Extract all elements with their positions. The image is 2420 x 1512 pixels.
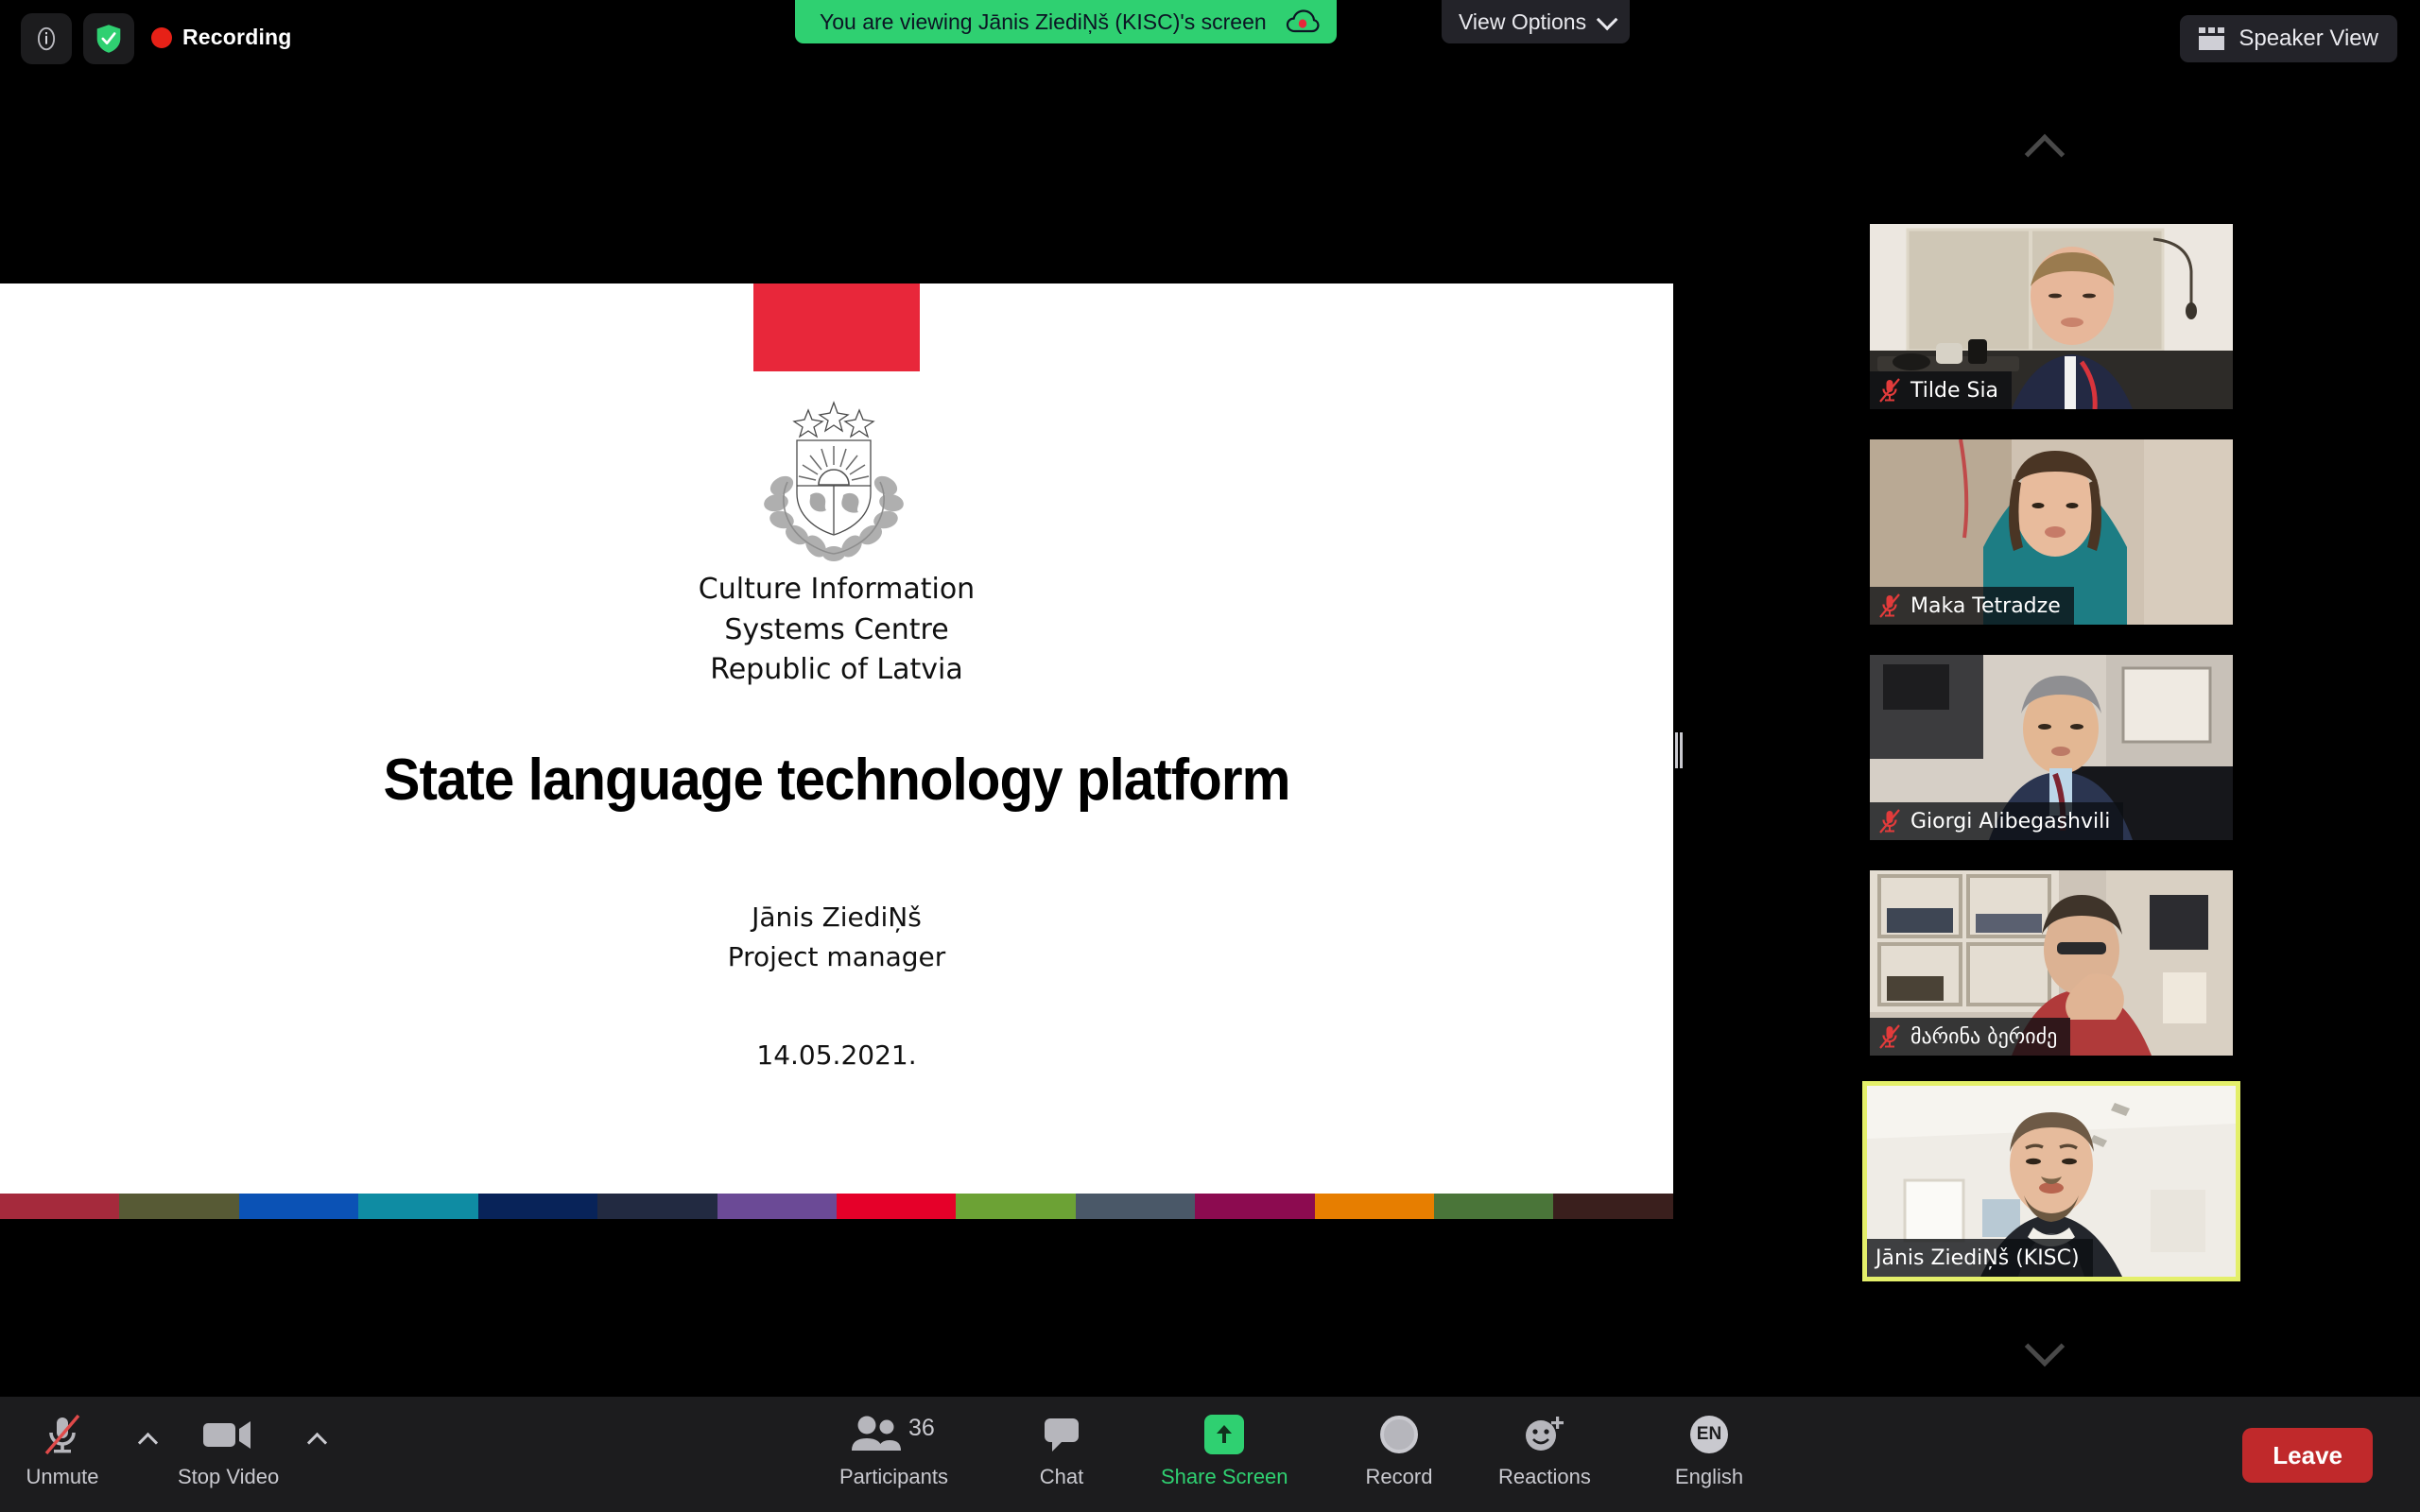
video-options-caret-button[interactable] — [306, 1431, 331, 1452]
chevron-down-icon — [2025, 1327, 2065, 1366]
presenter-role: Project manager — [0, 937, 1673, 977]
language-code: EN — [1690, 1416, 1728, 1453]
participant-name: Jānis ZiediŅš (KISC) — [1875, 1246, 2080, 1270]
color-strip-block — [239, 1194, 358, 1219]
participant-tile[interactable]: Tilde Sia — [1870, 224, 2233, 409]
color-strip-block — [597, 1194, 717, 1219]
recording-label: Recording — [182, 25, 292, 50]
color-strip-block — [478, 1194, 597, 1219]
participant-name-badge: მარინა ბერიძე — [1870, 1018, 2070, 1056]
layout-grid-icon — [2199, 27, 2225, 50]
color-strip-block — [1315, 1194, 1434, 1219]
language-label: English — [1675, 1465, 1743, 1489]
record-label: Record — [1366, 1465, 1433, 1489]
latvia-coat-of-arms-icon — [744, 395, 924, 565]
reactions-label: Reactions — [1498, 1465, 1591, 1489]
unmute-label: Unmute — [26, 1465, 98, 1489]
language-circle-icon: EN — [1690, 1412, 1728, 1457]
color-strip-block — [837, 1194, 956, 1219]
encryption-shield-icon — [95, 24, 123, 54]
stop-video-label: Stop Video — [178, 1465, 279, 1489]
presenter-name: Jānis ZiediŅš — [0, 898, 1673, 937]
shared-screen-slide[interactable]: Culture Information Systems Centre Repub… — [0, 283, 1673, 1219]
speaker-view-label: Speaker View — [2238, 26, 2378, 52]
meeting-top-bar: Recording You are viewing Jānis ZiediŅš … — [0, 0, 2420, 77]
view-options-label: View Options — [1459, 9, 1586, 35]
view-options-button[interactable]: View Options — [1442, 0, 1630, 43]
microphone-muted-icon — [41, 1412, 84, 1457]
recording-indicator[interactable]: Recording — [151, 25, 292, 50]
participant-tile[interactable]: მარინა ბერიძე — [1870, 870, 2233, 1056]
microphone-muted-icon — [1878, 377, 1901, 404]
participants-label: Participants — [839, 1465, 948, 1489]
org-line-2: Systems Centre — [0, 610, 1673, 651]
active-speaker-tile[interactable]: Jānis ZiediŅš (KISC) — [1862, 1081, 2240, 1281]
recording-dot-icon — [151, 27, 172, 48]
color-strip-block — [119, 1194, 238, 1219]
language-button[interactable]: EN English — [1664, 1412, 1754, 1499]
color-strip-block — [1434, 1194, 1553, 1219]
participant-name-badge: Tilde Sia — [1870, 371, 2012, 409]
color-strip-block — [717, 1194, 837, 1219]
participants-button[interactable]: 36 Participants — [839, 1412, 948, 1499]
microphone-muted-icon — [1878, 1023, 1901, 1050]
filmstrip-scroll-up-button[interactable] — [2004, 132, 2099, 174]
camera-icon — [201, 1412, 256, 1457]
microphone-muted-icon — [1878, 593, 1901, 619]
share-arrow-up-icon — [1204, 1412, 1244, 1457]
speaker-view-button[interactable]: Speaker View — [2180, 15, 2397, 62]
chevron-down-icon — [1597, 9, 1618, 31]
filmstrip-scroll-down-button[interactable] — [2004, 1325, 2099, 1366]
reactions-button[interactable]: Reactions — [1498, 1412, 1591, 1499]
color-strip-block — [0, 1194, 119, 1219]
audio-options-caret-button[interactable] — [137, 1431, 162, 1452]
unmute-button[interactable]: Unmute — [17, 1412, 108, 1499]
chat-bubble-icon — [1041, 1412, 1082, 1457]
latvia-flag-block — [753, 283, 920, 371]
participant-name: Maka Tetradze — [1910, 594, 2061, 618]
share-resize-handle[interactable] — [1675, 732, 1684, 768]
participant-name: Tilde Sia — [1910, 379, 1998, 403]
organization-name: Culture Information Systems Centre Repub… — [0, 570, 1673, 691]
viewing-screen-text: You are viewing Jānis ZiediŅš (KISC)'s s… — [820, 9, 1267, 35]
color-strip-block — [1195, 1194, 1314, 1219]
color-strip-block — [1076, 1194, 1195, 1219]
color-strip-block — [358, 1194, 477, 1219]
microphone-muted-icon — [1878, 808, 1901, 834]
participant-filmstrip: Tilde Sia — [1862, 123, 2240, 1380]
color-strip-block — [1553, 1194, 1672, 1219]
zoom-meeting-window: Recording You are viewing Jānis ZiediŅš … — [0, 0, 2420, 1512]
chevron-up-icon — [307, 1433, 327, 1452]
record-circle-icon — [1380, 1412, 1418, 1457]
participant-name: Giorgi Alibegashvili — [1910, 810, 2110, 833]
leave-button[interactable]: Leave — [2242, 1428, 2373, 1483]
color-strip-block — [956, 1194, 1075, 1219]
participant-name-badge: Maka Tetradze — [1870, 587, 2074, 625]
chat-label: Chat — [1040, 1465, 1083, 1489]
participant-name-badge: Giorgi Alibegashvili — [1870, 802, 2123, 840]
record-button[interactable]: Record — [1354, 1412, 1444, 1499]
chevron-up-icon — [138, 1433, 158, 1452]
meeting-toolbar: Unmute Stop Video — [0, 1397, 2420, 1512]
participant-tile[interactable]: Giorgi Alibegashvili — [1870, 655, 2233, 840]
slide-date: 14.05.2021. — [0, 1039, 1673, 1071]
chevron-up-icon — [2025, 134, 2065, 174]
org-line-1: Culture Information — [0, 570, 1673, 610]
participant-tile[interactable]: Maka Tetradze — [1870, 439, 2233, 625]
slide-color-strip — [0, 1194, 1673, 1219]
viewing-screen-banner: You are viewing Jānis ZiediŅš (KISC)'s s… — [795, 0, 1337, 43]
presenter-block: Jānis ZiediŅš Project manager — [0, 898, 1673, 977]
info-icon — [32, 25, 60, 53]
share-screen-label: Share Screen — [1161, 1465, 1288, 1489]
encryption-status-button[interactable] — [83, 13, 134, 64]
chat-button[interactable]: Chat — [1016, 1412, 1107, 1499]
slide-title: State language technology platform — [50, 747, 1623, 814]
stop-video-button[interactable]: Stop Video — [178, 1412, 279, 1499]
share-screen-button[interactable]: Share Screen — [1161, 1412, 1288, 1499]
svg-text:36: 36 — [908, 1415, 935, 1441]
people-icon: 36 — [846, 1412, 941, 1457]
active-speaker-name-badge: Jānis ZiediŅš (KISC) — [1867, 1239, 2093, 1277]
smiley-plus-icon — [1520, 1412, 1569, 1457]
org-line-3: Republic of Latvia — [0, 650, 1673, 691]
cloud-recording-icon — [1286, 9, 1320, 35]
meeting-info-button[interactable] — [21, 13, 72, 64]
participant-name: მარინა ბერიძე — [1910, 1025, 2057, 1049]
